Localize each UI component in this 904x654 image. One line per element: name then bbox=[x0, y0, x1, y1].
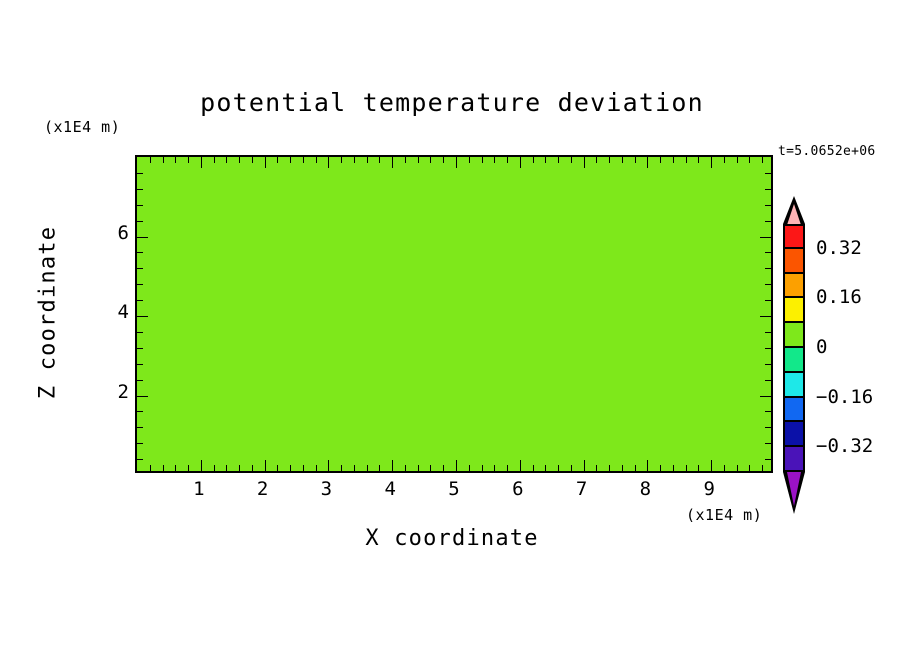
axis-tick bbox=[558, 465, 559, 471]
chart-title: potential temperature deviation bbox=[0, 88, 904, 117]
axis-tick bbox=[635, 465, 636, 471]
axis-tick bbox=[724, 465, 725, 471]
axis-tick bbox=[765, 443, 771, 444]
axis-tick bbox=[660, 157, 661, 163]
axis-tick bbox=[137, 268, 143, 269]
axis-tick bbox=[456, 460, 457, 471]
axis-tick bbox=[558, 157, 559, 163]
axis-tick bbox=[188, 157, 189, 163]
axis-tick bbox=[328, 157, 329, 168]
axis-tick bbox=[596, 157, 597, 163]
axis-tick bbox=[239, 157, 240, 163]
axis-tick bbox=[545, 465, 546, 471]
colorbar-band bbox=[783, 447, 805, 472]
y-tick-label: 4 bbox=[95, 301, 129, 323]
axis-tick bbox=[443, 465, 444, 471]
axis-tick bbox=[749, 465, 750, 471]
y-tick-label: 6 bbox=[95, 222, 129, 244]
axis-tick bbox=[762, 157, 763, 163]
axis-tick bbox=[545, 157, 546, 163]
time-annotation: t=5.0652e+06 bbox=[778, 144, 876, 159]
axis-tick bbox=[647, 460, 648, 471]
axis-tick bbox=[303, 465, 304, 471]
x-tick-label: 1 bbox=[179, 478, 219, 500]
axis-tick bbox=[163, 157, 164, 163]
axis-tick bbox=[137, 173, 143, 174]
axis-tick bbox=[201, 460, 202, 471]
axis-tick bbox=[584, 157, 585, 168]
axis-tick bbox=[252, 157, 253, 163]
axis-tick bbox=[392, 460, 393, 471]
axis-tick bbox=[137, 443, 143, 444]
axis-tick bbox=[609, 465, 610, 471]
axis-tick bbox=[405, 157, 406, 163]
axis-tick bbox=[698, 465, 699, 471]
colorbar-band bbox=[783, 298, 805, 323]
axis-tick bbox=[765, 332, 771, 333]
axis-tick bbox=[379, 465, 380, 471]
axis-tick bbox=[609, 157, 610, 163]
colorbar-tick-label: 0.32 bbox=[816, 237, 862, 259]
axis-tick bbox=[163, 465, 164, 471]
axis-tick bbox=[137, 189, 143, 190]
axis-tick bbox=[456, 157, 457, 168]
axis-tick bbox=[622, 465, 623, 471]
colorbar-band bbox=[783, 373, 805, 398]
axis-tick bbox=[760, 237, 771, 238]
axis-tick bbox=[252, 465, 253, 471]
axis-tick bbox=[277, 157, 278, 163]
x-tick-label: 8 bbox=[625, 478, 665, 500]
axis-tick bbox=[765, 173, 771, 174]
axis-tick bbox=[265, 460, 266, 471]
axis-tick bbox=[354, 465, 355, 471]
colorbar-tick-label: −0.16 bbox=[816, 386, 873, 408]
axis-tick bbox=[290, 157, 291, 163]
colorbar-band bbox=[783, 348, 805, 373]
axis-tick bbox=[430, 157, 431, 163]
colorbar-band bbox=[783, 249, 805, 274]
axis-tick bbox=[765, 268, 771, 269]
axis-tick bbox=[137, 300, 143, 301]
axis-tick bbox=[571, 157, 572, 163]
axis-tick bbox=[737, 465, 738, 471]
axis-tick bbox=[660, 465, 661, 471]
axis-tick bbox=[137, 316, 148, 317]
y-axis-label: Z coordinate bbox=[36, 203, 61, 423]
axis-tick bbox=[188, 465, 189, 471]
axis-tick bbox=[596, 465, 597, 471]
colorbar-band bbox=[783, 274, 805, 299]
axis-tick bbox=[405, 465, 406, 471]
colorbar-tick-label: 0 bbox=[816, 336, 827, 358]
axis-tick bbox=[137, 205, 143, 206]
axis-tick bbox=[226, 157, 227, 163]
axis-tick bbox=[635, 157, 636, 163]
axis-tick bbox=[765, 205, 771, 206]
axis-tick bbox=[673, 157, 674, 163]
axis-tick bbox=[647, 157, 648, 168]
axis-tick bbox=[201, 157, 202, 168]
x-tick-label: 4 bbox=[370, 478, 410, 500]
axis-tick bbox=[673, 465, 674, 471]
axis-tick bbox=[765, 189, 771, 190]
y-axis-unit-label: (x1E4 m) bbox=[44, 118, 120, 136]
colorbar-band bbox=[783, 422, 805, 447]
axis-tick bbox=[533, 465, 534, 471]
axis-tick bbox=[507, 465, 508, 471]
colorbar-under-arrow bbox=[787, 472, 801, 506]
axis-tick bbox=[150, 465, 151, 471]
axis-tick bbox=[137, 221, 143, 222]
contour-plot-area bbox=[135, 155, 773, 473]
axis-tick bbox=[175, 465, 176, 471]
axis-tick bbox=[303, 157, 304, 163]
axis-tick bbox=[430, 465, 431, 471]
axis-tick bbox=[175, 157, 176, 163]
axis-tick bbox=[316, 465, 317, 471]
axis-tick bbox=[239, 465, 240, 471]
axis-tick bbox=[686, 465, 687, 471]
x-tick-label: 5 bbox=[434, 478, 474, 500]
axis-tick bbox=[137, 332, 143, 333]
axis-tick bbox=[507, 157, 508, 163]
axis-tick bbox=[760, 316, 771, 317]
axis-tick bbox=[277, 465, 278, 471]
axis-tick bbox=[533, 157, 534, 163]
axis-tick bbox=[724, 157, 725, 163]
axis-tick bbox=[265, 157, 266, 168]
x-tick-label: 2 bbox=[243, 478, 283, 500]
axis-tick bbox=[341, 465, 342, 471]
axis-tick bbox=[494, 465, 495, 471]
axis-tick bbox=[137, 380, 143, 381]
x-axis-unit-label: (x1E4 m) bbox=[686, 506, 762, 524]
x-axis-label: X coordinate bbox=[0, 526, 904, 551]
axis-tick bbox=[494, 157, 495, 163]
y-tick-label: 2 bbox=[95, 381, 129, 403]
axis-tick bbox=[418, 465, 419, 471]
colorbar-band bbox=[783, 323, 805, 348]
axis-tick bbox=[137, 427, 143, 428]
axis-tick bbox=[418, 157, 419, 163]
axis-tick bbox=[762, 465, 763, 471]
axis-tick bbox=[328, 460, 329, 471]
axis-tick bbox=[711, 157, 712, 168]
colorbar-tick-label: 0.16 bbox=[816, 286, 862, 308]
axis-tick bbox=[622, 157, 623, 163]
axis-tick bbox=[765, 380, 771, 381]
axis-tick bbox=[392, 157, 393, 168]
axis-tick bbox=[367, 157, 368, 163]
axis-tick bbox=[765, 300, 771, 301]
axis-tick bbox=[137, 396, 148, 397]
axis-tick bbox=[765, 459, 771, 460]
axis-tick bbox=[571, 465, 572, 471]
axis-tick bbox=[150, 157, 151, 163]
axis-tick bbox=[482, 157, 483, 163]
axis-tick bbox=[749, 157, 750, 163]
axis-tick bbox=[290, 465, 291, 471]
axis-tick bbox=[698, 157, 699, 163]
axis-tick bbox=[443, 157, 444, 163]
axis-tick bbox=[137, 411, 143, 412]
axis-tick bbox=[686, 157, 687, 163]
x-tick-label: 6 bbox=[498, 478, 538, 500]
x-tick-label: 7 bbox=[562, 478, 602, 500]
colorbar bbox=[783, 224, 805, 472]
colorbar-band bbox=[783, 398, 805, 423]
axis-tick bbox=[137, 459, 143, 460]
axis-tick bbox=[137, 364, 143, 365]
colorbar-tick-label: −0.32 bbox=[816, 435, 873, 457]
axis-tick bbox=[469, 157, 470, 163]
axis-tick bbox=[765, 411, 771, 412]
axis-tick bbox=[765, 348, 771, 349]
axis-tick bbox=[354, 157, 355, 163]
axis-tick bbox=[341, 157, 342, 163]
axis-tick bbox=[137, 252, 143, 253]
axis-tick bbox=[137, 348, 143, 349]
x-tick-label: 3 bbox=[306, 478, 346, 500]
axis-tick bbox=[482, 465, 483, 471]
axis-tick bbox=[469, 465, 470, 471]
axis-tick bbox=[737, 157, 738, 163]
scalar-field-canvas bbox=[137, 157, 771, 471]
axis-tick bbox=[520, 460, 521, 471]
axis-tick bbox=[367, 465, 368, 471]
axis-tick bbox=[711, 460, 712, 471]
axis-tick bbox=[137, 237, 148, 238]
axis-tick bbox=[765, 221, 771, 222]
axis-tick bbox=[379, 157, 380, 163]
axis-tick bbox=[765, 364, 771, 365]
axis-tick bbox=[520, 157, 521, 168]
axis-tick bbox=[584, 460, 585, 471]
colorbar-over-arrow bbox=[787, 204, 801, 225]
axis-tick bbox=[214, 465, 215, 471]
axis-tick bbox=[226, 465, 227, 471]
axis-tick bbox=[316, 157, 317, 163]
axis-tick bbox=[214, 157, 215, 163]
axis-tick bbox=[765, 284, 771, 285]
colorbar-band bbox=[783, 224, 805, 249]
axis-tick bbox=[765, 252, 771, 253]
x-tick-label: 9 bbox=[689, 478, 729, 500]
axis-tick bbox=[137, 284, 143, 285]
axis-tick bbox=[765, 427, 771, 428]
axis-tick bbox=[760, 396, 771, 397]
